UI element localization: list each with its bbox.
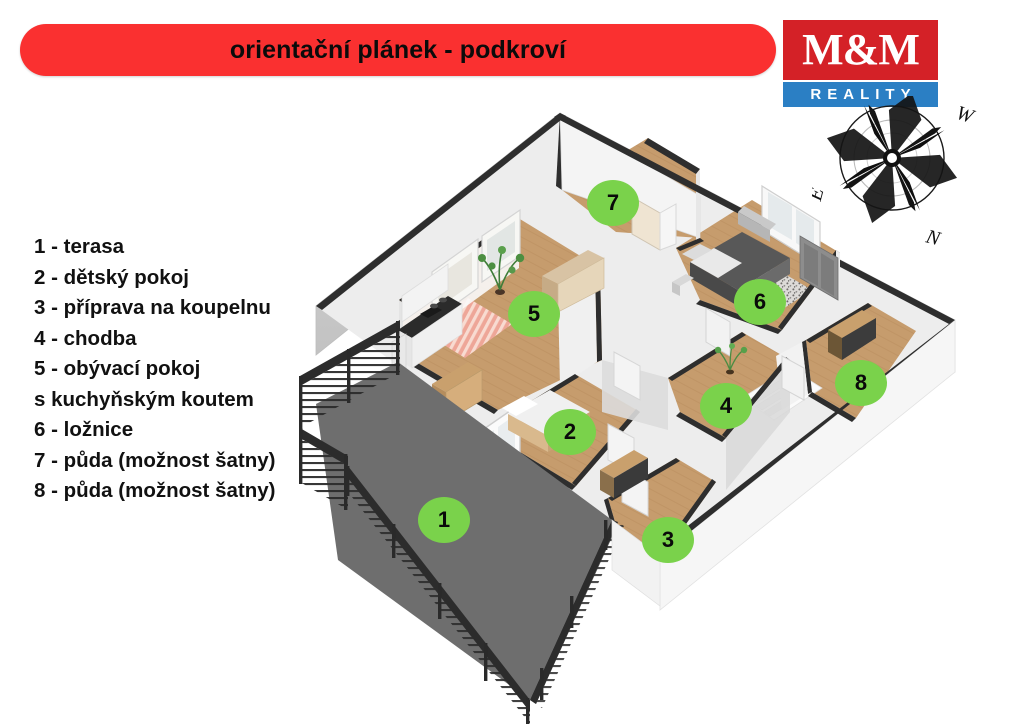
outer-wall-east — [660, 320, 955, 610]
compass-label-n: N — [923, 225, 944, 250]
headboard — [682, 244, 712, 260]
wall-7-6-divider-top — [644, 138, 700, 174]
compass-star — [812, 96, 977, 243]
room-marker-5[interactable]: 5 — [508, 291, 560, 337]
wall-kitchen-partition — [399, 216, 519, 303]
cooktop — [420, 306, 442, 318]
room-marker-8-label: 8 — [855, 372, 867, 394]
room-marker-8[interactable]: 8 — [835, 360, 887, 406]
door-room8 — [782, 356, 804, 400]
window-living-1 — [432, 239, 478, 321]
room-marker-2-label: 2 — [564, 421, 576, 443]
room-marker-6-label: 6 — [754, 291, 766, 313]
kitchen-counter — [398, 296, 462, 368]
compass-rose: W E N — [812, 96, 982, 256]
wall-8-face — [776, 342, 808, 410]
compass-label-e: E — [812, 186, 828, 204]
furniture — [392, 206, 876, 498]
wallface-center-block — [602, 360, 668, 430]
wall-hall-left — [668, 332, 746, 381]
room-marker-2[interactable]: 2 — [544, 409, 596, 455]
stair-treads — [748, 374, 812, 416]
room-marker-4-label: 4 — [720, 395, 732, 417]
plant-living — [478, 246, 524, 295]
terrace-railing-southeast — [530, 520, 624, 708]
wallface-living-north — [403, 219, 519, 352]
legend-item-5-cont: s kuchyňským koutem — [34, 385, 334, 416]
wall-2-bottom — [516, 452, 576, 490]
logo-brand-text: M&M — [802, 28, 919, 72]
mm-reality-logo: M&M REALITY — [783, 20, 938, 108]
wall-8-inner — [802, 340, 812, 394]
door-room7-leaf — [660, 204, 676, 250]
cabinet-lower-living — [432, 362, 482, 422]
floor-room-5 — [399, 216, 602, 410]
wall-3-left — [604, 498, 622, 548]
compass-hub-inner — [887, 153, 897, 163]
wall-cap-left — [316, 113, 566, 310]
logo-brand-box: M&M — [783, 20, 938, 80]
wall-living-right — [595, 268, 602, 362]
legend-item-4: 4 - chodba — [34, 324, 334, 355]
legend-item-8: 8 - půda (možnost šatny) — [34, 476, 334, 507]
wall-6-right — [778, 250, 840, 330]
room-marker-6[interactable]: 6 — [734, 279, 786, 325]
wall-7-6-face — [696, 169, 700, 240]
legend-item-7: 7 - půda (možnost šatny) — [34, 446, 334, 477]
wall-living-bottom — [395, 352, 498, 414]
desk-room8 — [828, 310, 876, 360]
kitchen-upper-cabinets — [402, 264, 448, 322]
door-room2 — [608, 424, 634, 474]
slab-edges — [398, 362, 660, 606]
room-marker-4[interactable]: 4 — [700, 383, 752, 429]
wall-living-right-face — [558, 270, 597, 386]
legend-item-2: 2 - dětský pokoj — [34, 263, 334, 294]
window-living-2 — [482, 210, 520, 282]
room-marker-1[interactable]: 1 — [418, 497, 470, 543]
room-marker-1-label: 1 — [438, 509, 450, 531]
wall-3-top — [608, 458, 680, 501]
door-room4 — [614, 352, 640, 400]
room-marker-3[interactable]: 3 — [642, 517, 694, 563]
room-marker-7-label: 7 — [607, 192, 619, 214]
terrace-fascia-bottom — [530, 520, 618, 704]
legend-item-5: 5 - obývací pokoj — [34, 354, 334, 385]
wall-kitchen-face — [399, 300, 403, 354]
room-marker-7[interactable]: 7 — [587, 180, 639, 226]
rug-kitchen — [420, 298, 512, 358]
door-room3 — [622, 468, 648, 516]
vanity-room3 — [600, 450, 648, 498]
plant-hall — [715, 343, 747, 374]
child-pillow — [502, 396, 538, 416]
title-banner: orientační plánek - podkroví — [20, 24, 776, 76]
room-marker-3-label: 3 — [662, 529, 674, 551]
page-title: orientační plánek - podkroví — [230, 36, 566, 65]
nightstand-bedroom — [672, 274, 694, 296]
pillows — [690, 248, 742, 278]
door-room6 — [706, 308, 730, 356]
legend-item-3: 3 - příprava na koupelnu — [34, 293, 334, 324]
legend-item-1: 1 - terasa — [34, 232, 334, 263]
wall-6-right-face — [836, 250, 840, 300]
room-marker-5-label: 5 — [528, 303, 540, 325]
wall-spine-upper — [556, 113, 566, 190]
wall-2-left-face — [500, 420, 504, 470]
wall-6-left — [676, 238, 704, 251]
patio-door — [468, 404, 520, 506]
windows-and-doors — [432, 186, 820, 516]
legend: 1 - terasa 2 - dětský pokoj 3 - příprava… — [34, 232, 334, 507]
fridge — [392, 334, 406, 380]
wall-cap-east — [654, 320, 955, 556]
legend-item-6: 6 - ložnice — [34, 415, 334, 446]
compass-label-w: W — [953, 102, 978, 129]
stairwell-void — [742, 368, 822, 420]
dresser-bedroom — [738, 206, 776, 242]
wall-8-left — [806, 303, 872, 343]
